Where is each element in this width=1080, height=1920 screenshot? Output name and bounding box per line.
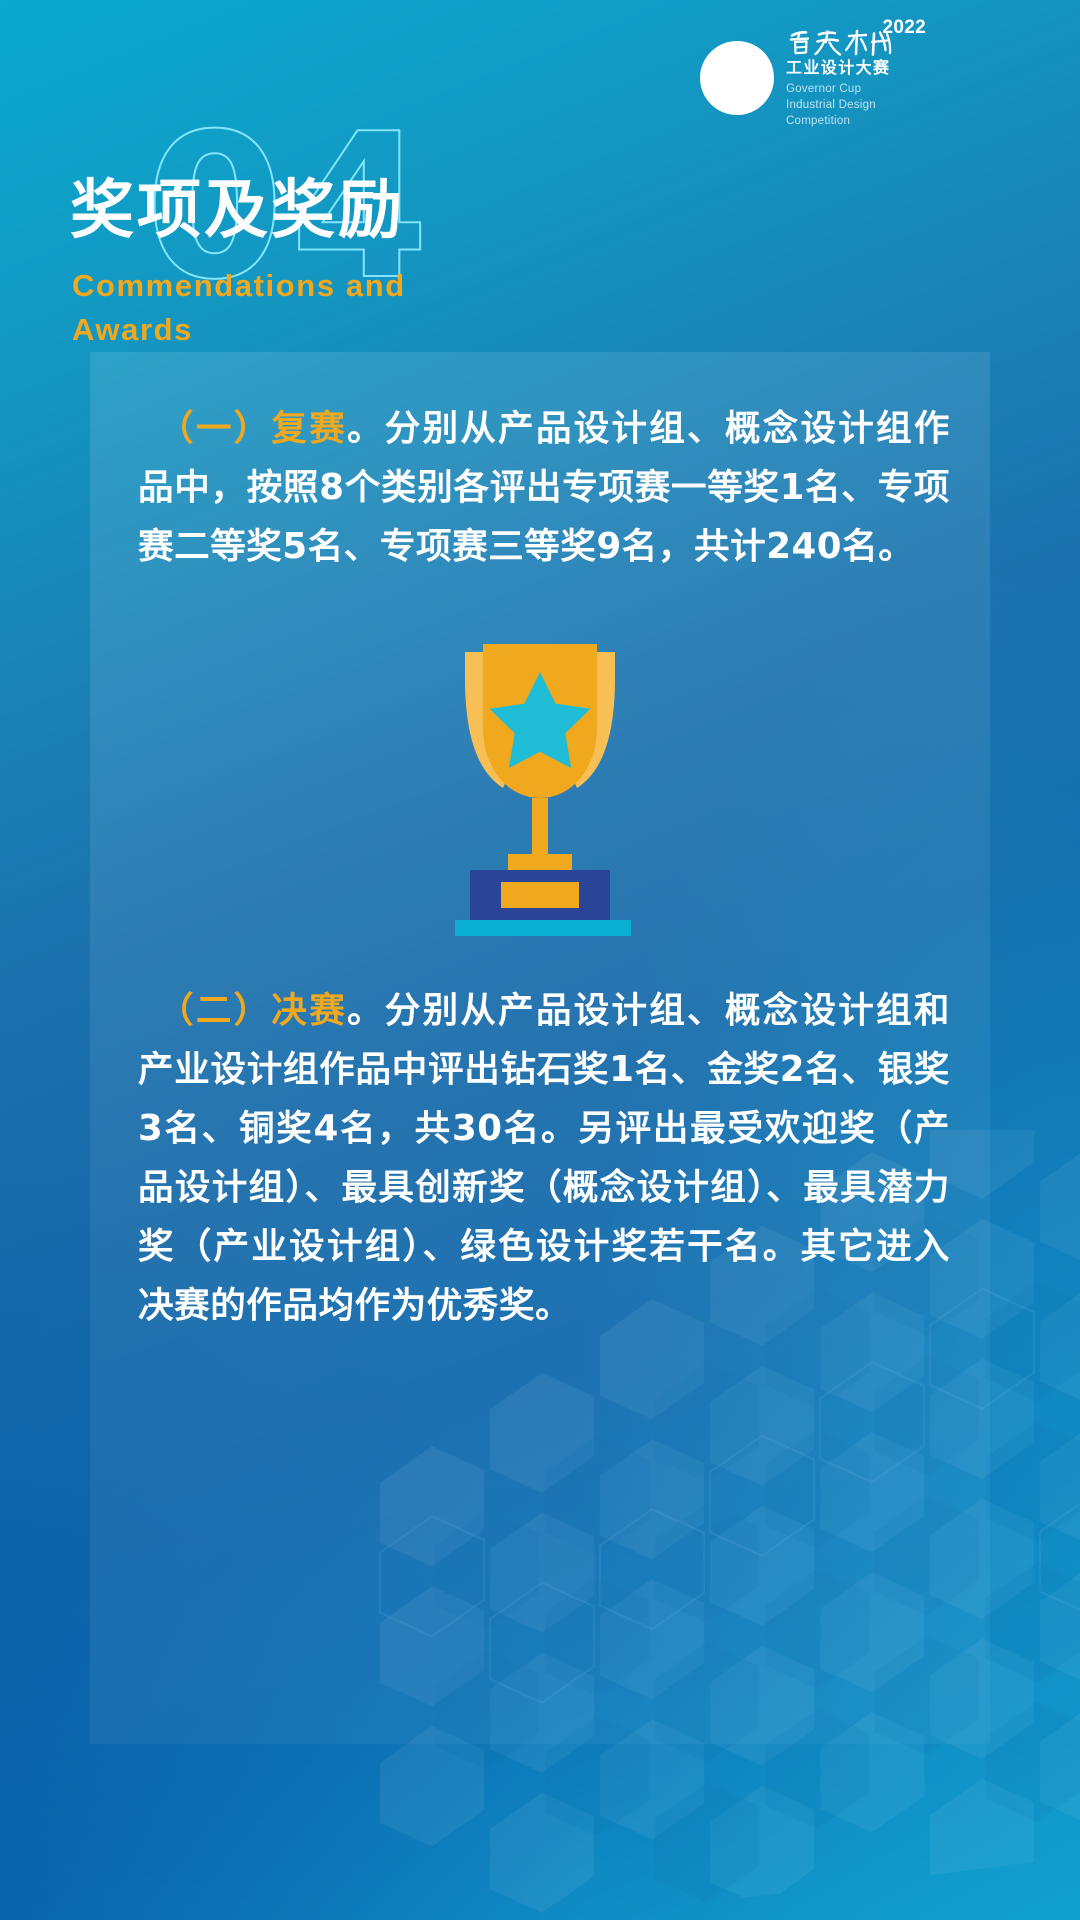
competition-logo: 2022 (700, 30, 1040, 126)
trophy-base-plaque (501, 882, 579, 908)
trophy-stem (532, 798, 548, 854)
paragraph-preliminary-round: （一）复赛。分别从产品设计组、概念设计组作品中，按照8个类别各评出专项赛一等奖1… (138, 400, 950, 577)
logo-year: 2022 (883, 17, 926, 39)
logo-brand-english: Governor Cup Industrial Design Competiti… (786, 81, 928, 130)
logo-brand-subtitle: 工业设计大赛 (786, 59, 928, 77)
paragraph-2-lead: （二）决赛 (176, 990, 347, 1031)
paragraph-final-round: （二）决赛。分别从产品设计组、概念设计组和产业设计组作品中评出钻石奖1名、金奖2… (138, 982, 950, 1336)
paragraph-1-lead: （一）复赛 (176, 408, 347, 449)
page-title: 奖项及奖励 (70, 176, 405, 246)
logo-wordmark: 2022 (786, 26, 928, 129)
poster-page: 2022 (0, 0, 1080, 1920)
page-subtitle: Commendations and Awards (72, 264, 492, 352)
logo-en-line-2: Industrial Design (786, 97, 928, 113)
content-card: （一）复赛。分别从产品设计组、概念设计组作品中，按照8个类别各评出专项赛一等奖1… (90, 352, 990, 1744)
section-title-block: 04 奖项及奖励 Commendations and Awards (70, 118, 630, 348)
trophy-with-star-icon (395, 620, 685, 950)
trophy-floor-bar (455, 920, 631, 936)
logo-en-line-1: Governor Cup (786, 81, 928, 97)
logo-en-line-3: Competition (786, 113, 928, 129)
paragraph-2-body: 。分别从产品设计组、概念设计组和产业设计组作品中评出钻石奖1名、金奖2名、银奖3… (138, 990, 950, 1326)
trophy-stem-foot (508, 854, 572, 870)
governor-cup-g-mark-icon (700, 41, 774, 115)
